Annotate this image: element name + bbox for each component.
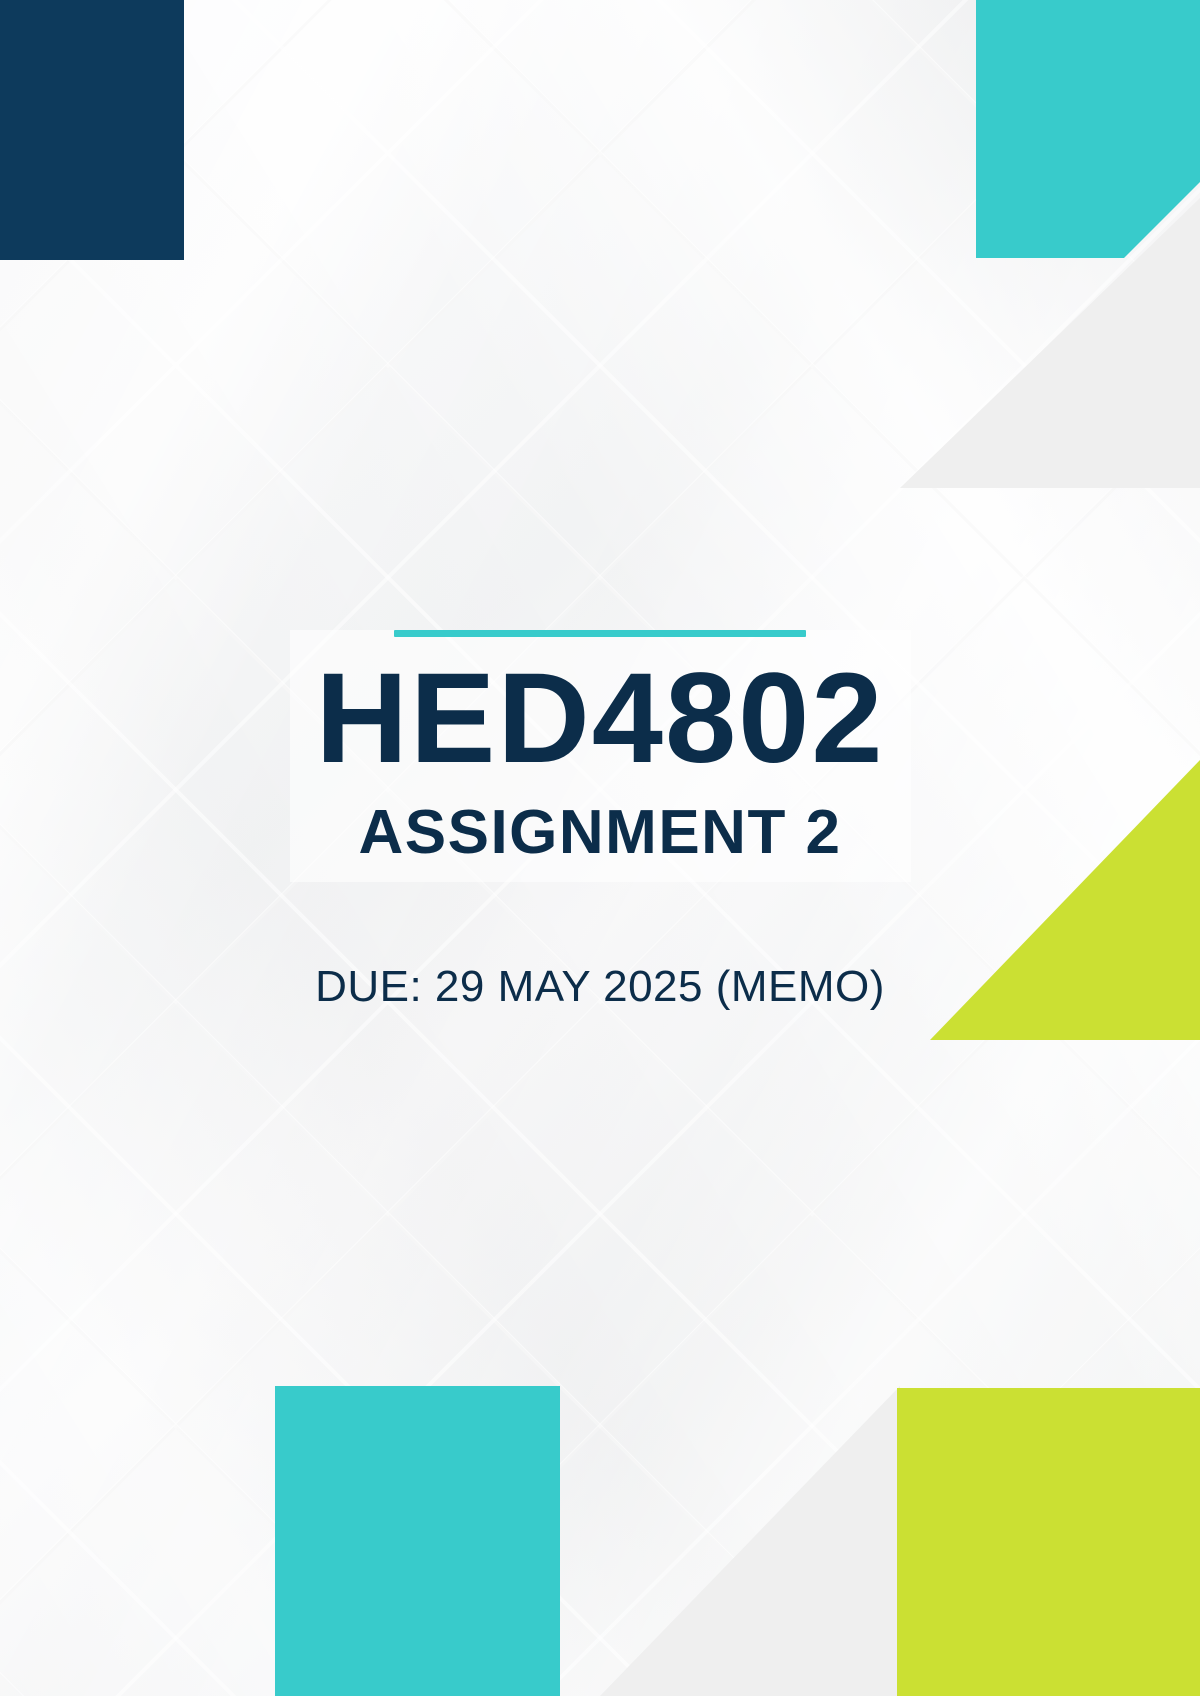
teal-accent-rule bbox=[394, 630, 806, 637]
teal-square-bottom-left bbox=[275, 1386, 560, 1696]
navy-square-top-left bbox=[0, 0, 184, 260]
assignment-title: ASSIGNMENT 2 bbox=[316, 797, 885, 868]
due-date-text: DUE: 29 MAY 2025 (MEMO) bbox=[0, 962, 1200, 1012]
lime-square-bottom-right bbox=[830, 1388, 1200, 1696]
gray-triangle-top-right bbox=[900, 198, 1200, 488]
title-block: HED4802 ASSIGNMENT 2 bbox=[0, 630, 1200, 882]
course-code: HED4802 bbox=[316, 655, 885, 783]
cover-page: HED4802 ASSIGNMENT 2 DUE: 29 MAY 2025 (M… bbox=[0, 0, 1200, 1696]
title-plate: HED4802 ASSIGNMENT 2 bbox=[290, 630, 911, 882]
